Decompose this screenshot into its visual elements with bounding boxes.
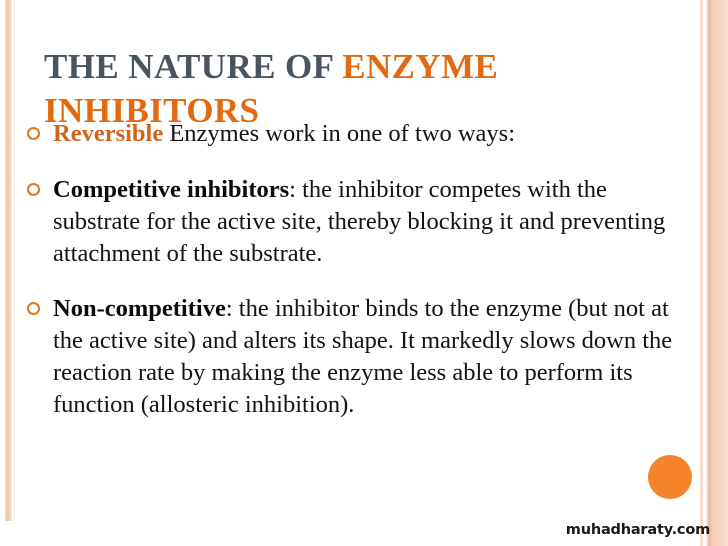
list-item-lead: Competitive inhibitors <box>53 176 289 203</box>
list-item: Non-competitive: the inhibitor binds to … <box>22 293 698 420</box>
list-item: Reversible Enzymes work in one of two wa… <box>22 118 698 150</box>
list-item-lead: Non-competitive <box>53 295 226 322</box>
slide-title-lead: THE NATURE OF <box>44 47 342 86</box>
bullet-circle-icon <box>27 127 40 140</box>
list-item-lead: Reversible <box>53 120 163 147</box>
right-stripe-hairline <box>700 0 703 546</box>
left-decorative-stripe <box>5 0 12 521</box>
list-item: Competitive inhibitors: the inhibitor co… <box>22 174 698 270</box>
bullet-circle-icon <box>27 302 40 315</box>
bullet-list: Reversible Enzymes work in one of two wa… <box>22 118 698 421</box>
footer-watermark: muhadharaty.com <box>566 522 710 538</box>
bullet-circle-icon <box>27 183 40 196</box>
right-decorative-band <box>706 0 728 546</box>
left-stripe-highlight <box>13 0 15 521</box>
list-item-text: Enzymes work in one of two ways: <box>163 120 515 147</box>
decorative-orange-dot <box>648 455 692 499</box>
slide: THE NATURE OF ENZYME INHIBITORS Reversib… <box>0 0 728 546</box>
